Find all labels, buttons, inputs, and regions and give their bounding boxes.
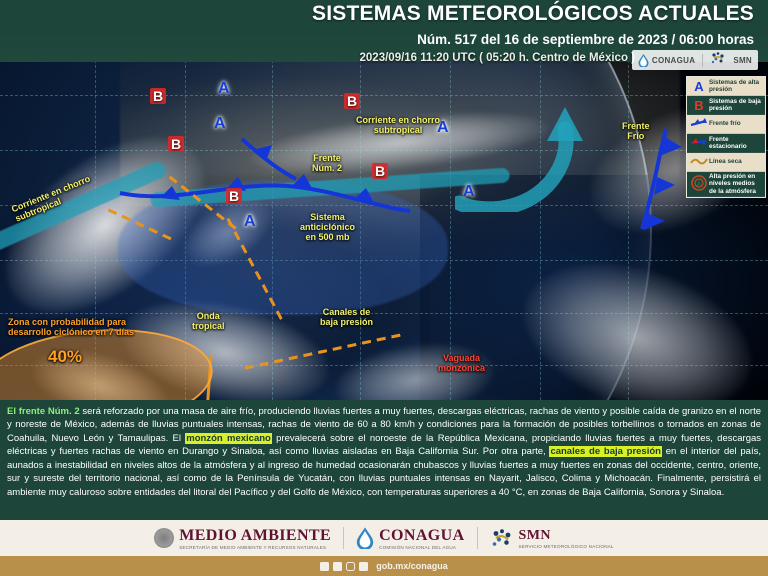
cold-front-symbol-icon — [689, 117, 709, 131]
low-pressure-marker-b: B — [344, 93, 360, 109]
conagua-footer-text: CONAGUA — [379, 527, 464, 545]
legend-label: Sistemas de alta presión — [709, 79, 763, 94]
map-label-cyclone-zone: Zona con probabilidad para desarrollo ci… — [8, 317, 134, 337]
legend-item-stationary-front: Frente estacionario — [687, 134, 765, 153]
mexican-eagle-seal-icon — [154, 528, 174, 548]
bulletin-segment: El frente Núm. 2 — [7, 406, 80, 417]
header-logos: CONAGUA SMN — [632, 50, 758, 70]
smn-swirl-icon — [490, 527, 514, 549]
map-label-front-2: Frente Núm. 2 — [312, 153, 342, 173]
conagua-logo-text: CONAGUA — [652, 56, 695, 65]
legend-item-cold-front: Frente frío — [687, 115, 765, 134]
twitter-icon[interactable] — [333, 562, 342, 571]
map-label-jet-stream-central: Corriente en chorro subtropical — [356, 115, 440, 135]
conagua-logo-header: CONAGUA — [638, 54, 695, 67]
youtube-icon[interactable] — [359, 562, 368, 571]
map-label-cold-front-east: Frente Frío — [622, 121, 650, 141]
smn-footer-text: SMN — [519, 528, 614, 544]
bulletin-segment: monzón mexicano — [185, 433, 272, 444]
legend-item-high-pressure: A Sistemas de alta presión — [687, 77, 765, 96]
smn-logo-text: SMN — [733, 56, 752, 65]
weather-bulletin-page: ✕ B B B B B A A A A A Corriente en chorr… — [0, 0, 768, 576]
footer-logos-bar: MEDIO AMBIENTE SECRETARÍA DE MEDIO AMBIE… — [0, 520, 768, 556]
water-drop-icon — [638, 54, 649, 67]
legend-item-mid-level-high: A Alta presión en niveles medios de la a… — [687, 172, 765, 197]
smn-footer-tagline: SERVICIO METEOROLÓGICO NACIONAL — [519, 544, 614, 549]
map-label-tropical-wave: Onda tropical — [192, 311, 225, 331]
dry-line-symbol-icon — [689, 155, 709, 169]
footer-divider — [343, 527, 344, 549]
satellite-weather-map[interactable]: ✕ B B B B B A A A A A Corriente en chorr… — [0, 55, 768, 400]
bulletin-text-panel: El frente Núm. 2 será reforzado por una … — [0, 400, 768, 520]
svg-text:A: A — [697, 182, 702, 188]
stationary-front-symbol-icon — [689, 136, 709, 150]
low-pressure-marker-b: B — [150, 88, 166, 104]
high-pressure-marker-a: A — [215, 80, 233, 98]
low-pressure-letter-b-icon: B — [689, 98, 709, 113]
social-bar: gob.mx/conagua — [0, 556, 768, 576]
legend-label: Frente frío — [709, 120, 741, 127]
map-label-anticyclone: Sistema anticiclónico en 500 mb — [300, 212, 355, 242]
smn-swirl-icon — [710, 51, 730, 69]
legend-label: Alta presión en niveles medios de la atm… — [709, 173, 763, 195]
legend-label: Sistemas de baja presión — [709, 98, 763, 113]
legend-label: Línea seca — [709, 158, 742, 165]
cold-front-segment-north — [240, 135, 370, 185]
bulletin-paragraph: El frente Núm. 2 será reforzado por una … — [7, 405, 761, 499]
map-label-monsoon-trough: Vaguada monzónica — [438, 353, 485, 373]
utc-timestamp: 2023/09/16 11:20 UTC ( 05:20 h. Centro d… — [360, 52, 635, 64]
mid-level-high-symbol-icon: A — [689, 175, 709, 194]
high-pressure-letter-a-icon: A — [689, 79, 709, 94]
low-pressure-marker-b: B — [226, 188, 242, 204]
smn-logo-header: SMN — [710, 51, 752, 69]
map-label-cyclone-percent: 40% — [48, 347, 82, 366]
legend-item-dry-line: Línea seca — [687, 153, 765, 172]
page-title: SISTEMAS METEOROLÓGICOS ACTUALES — [312, 2, 754, 26]
map-legend: A Sistemas de alta presión B Sistemas de… — [686, 76, 766, 198]
map-label-low-channels: Canales de baja presión — [320, 307, 373, 327]
medio-ambiente-logo: MEDIO AMBIENTE SECRETARÍA DE MEDIO AMBIE… — [154, 527, 331, 550]
low-pressure-marker-b: B — [168, 136, 184, 152]
conagua-logo-footer: CONAGUA COMISIÓN NACIONAL DEL AGUA — [356, 527, 464, 550]
water-drop-icon — [356, 527, 374, 549]
footer-divider — [477, 527, 478, 549]
conagua-footer-tagline: COMISIÓN NACIONAL DEL AGUA — [379, 545, 464, 550]
facebook-icon[interactable] — [320, 562, 329, 571]
high-pressure-marker-a: A — [460, 183, 478, 201]
logo-divider — [702, 54, 703, 67]
medio-ambiente-text: MEDIO AMBIENTE — [179, 527, 331, 545]
website-url[interactable]: gob.mx/conagua — [376, 561, 448, 571]
instagram-icon[interactable] — [346, 562, 355, 571]
high-pressure-marker-a: A — [241, 213, 259, 231]
smn-logo-footer: SMN SERVICIO METEOROLÓGICO NACIONAL — [490, 527, 614, 549]
low-pressure-marker-b: B — [372, 163, 388, 179]
high-pressure-marker-a: A — [211, 115, 229, 133]
legend-label: Frente estacionario — [709, 136, 763, 151]
legend-item-low-pressure: B Sistemas de baja presión — [687, 96, 765, 115]
bulletin-number-date: Núm. 517 del 16 de septiembre de 2023 / … — [417, 32, 754, 47]
bulletin-segment: canales de baja presión — [549, 446, 662, 457]
medio-ambiente-tagline: SECRETARÍA DE MEDIO AMBIENTE Y RECURSOS … — [179, 545, 331, 550]
